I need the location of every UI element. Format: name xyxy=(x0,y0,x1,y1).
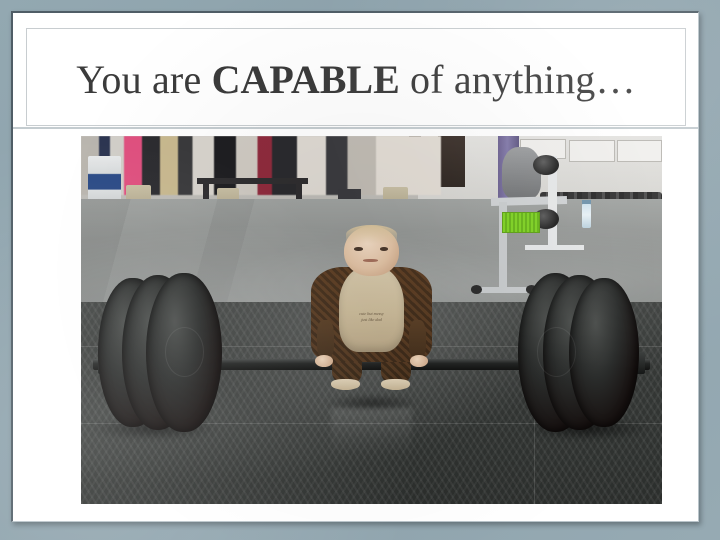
slide-canvas: You are CAPABLE of anything… xyxy=(11,11,699,522)
baby-bib-text: cute but messy just like dad xyxy=(345,311,398,335)
folding-table xyxy=(197,178,307,184)
baby-arm-right xyxy=(409,320,426,359)
baby-hand-left xyxy=(315,355,334,367)
pulley-wheel-top xyxy=(533,155,559,175)
baby-eye-right xyxy=(380,247,389,251)
baby-bib xyxy=(339,266,404,352)
title-suffix: of anything… xyxy=(400,57,636,102)
bumper-plate-right-outer xyxy=(569,278,639,427)
slide-image[interactable]: cute but messy just like dad xyxy=(81,136,662,504)
floor-reflection xyxy=(331,408,412,467)
title-placeholder[interactable]: You are CAPABLE of anything… xyxy=(26,28,686,126)
bib-text-line-2: just like dad xyxy=(345,317,398,323)
baby-arm-left xyxy=(317,320,334,359)
green-storage-basket xyxy=(502,212,540,233)
water-bottle xyxy=(582,204,591,228)
baby-shoe-left xyxy=(331,379,360,390)
doorway-1 xyxy=(438,136,465,187)
bumper-plate-right-hub xyxy=(537,327,577,377)
whiteboard-1 xyxy=(569,140,615,162)
page-title: You are CAPABLE of anything… xyxy=(27,53,685,101)
rowing-machine-base xyxy=(473,287,534,293)
title-divider xyxy=(13,127,699,129)
title-prefix: You are xyxy=(76,57,211,102)
baby-eye-left xyxy=(354,247,363,251)
pulley-machine-base xyxy=(525,245,583,250)
rowing-machine-flywheel xyxy=(502,147,540,199)
slide-outer-frame: You are CAPABLE of anything… xyxy=(0,0,720,540)
baby-shoe-right xyxy=(381,379,410,390)
water-cooler xyxy=(88,156,121,202)
baby-hair xyxy=(346,225,397,244)
whiteboard-2 xyxy=(617,140,662,162)
title-emphasis: CAPABLE xyxy=(212,57,400,102)
